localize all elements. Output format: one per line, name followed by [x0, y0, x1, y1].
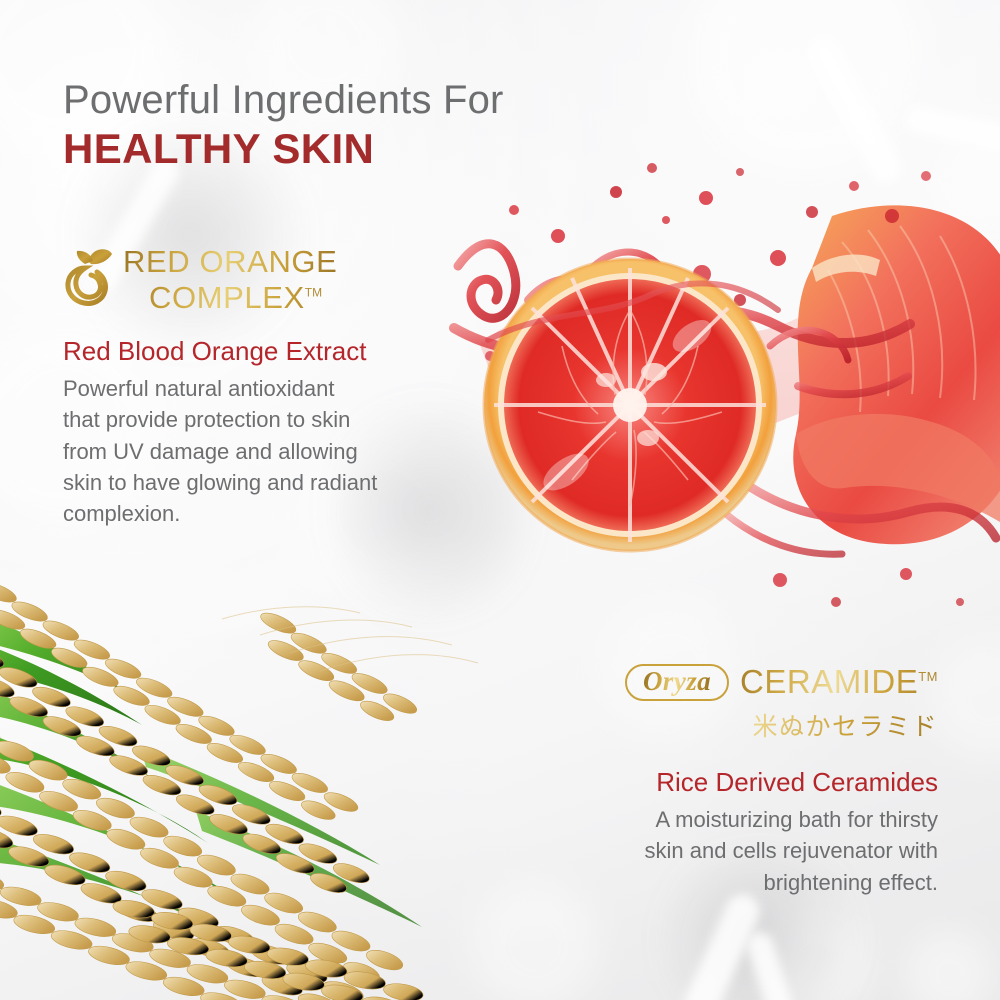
header-line-1: Powerful Ingredients For [63, 78, 504, 123]
rice-grain-heads [0, 579, 433, 1000]
header-line-2: HEALTHY SKIN [63, 125, 504, 172]
body-line: brightening effect. [563, 867, 938, 898]
red-orange-body: Powerful natural antioxidant that provid… [63, 373, 463, 529]
red-orange-complex-block: RED ORANGE COMPLEXTM Red Blood Orange Ex… [63, 246, 463, 529]
rice-stalks-svg [0, 575, 530, 1000]
oryza-ceramide-block: Oryza CERAMIDETM 米ぬかセラミド Rice Derived Ce… [563, 660, 938, 898]
ceramide-wordmark: CERAMIDETM [740, 663, 938, 701]
red-orange-complex-wordmark: RED ORANGE COMPLEXTM [123, 244, 337, 316]
japanese-subtitle: 米ぬかセラミド [563, 707, 938, 743]
logo-line-1: RED ORANGE [123, 244, 337, 280]
body-line: complexion. [63, 498, 463, 529]
body-line: that provide protection to skin [63, 404, 463, 435]
trademark-symbol: TM [918, 669, 938, 684]
trademark-symbol: TM [305, 286, 322, 300]
logo-line-2: COMPLEXTM [123, 280, 337, 316]
body-line: A moisturizing bath for thirsty [563, 804, 938, 835]
oryza-ceramide-logo: Oryza CERAMIDETM [563, 660, 938, 704]
blood-orange-artwork [440, 150, 1000, 620]
red-orange-subtitle: Red Blood Orange Extract [63, 336, 463, 367]
logo-line-2-text: COMPLEX [149, 280, 305, 315]
body-line: skin to have glowing and radiant [63, 467, 463, 498]
ceramide-subtitle: Rice Derived Ceramides [563, 767, 938, 798]
blood-orange-svg [440, 150, 1000, 620]
rice-stalks-artwork [0, 575, 530, 1000]
ceramide-text: CERAMIDE [740, 663, 918, 700]
infographic-canvas: Powerful Ingredients For HEALTHY SKIN [0, 0, 1000, 1000]
oryza-brand-capsule: Oryza [625, 664, 729, 701]
body-line: from UV damage and allowing [63, 436, 463, 467]
page-header: Powerful Ingredients For HEALTHY SKIN [63, 78, 504, 172]
body-line: Powerful natural antioxidant [63, 373, 463, 404]
oryza-script-word: Oryza [643, 666, 711, 696]
ceramide-body: A moisturizing bath for thirsty skin and… [563, 804, 938, 898]
red-orange-complex-logo: RED ORANGE COMPLEXTM [63, 246, 463, 322]
orange-fruit-leaf-icon [63, 248, 115, 306]
body-line: skin and cells rejuvenator with [563, 835, 938, 866]
